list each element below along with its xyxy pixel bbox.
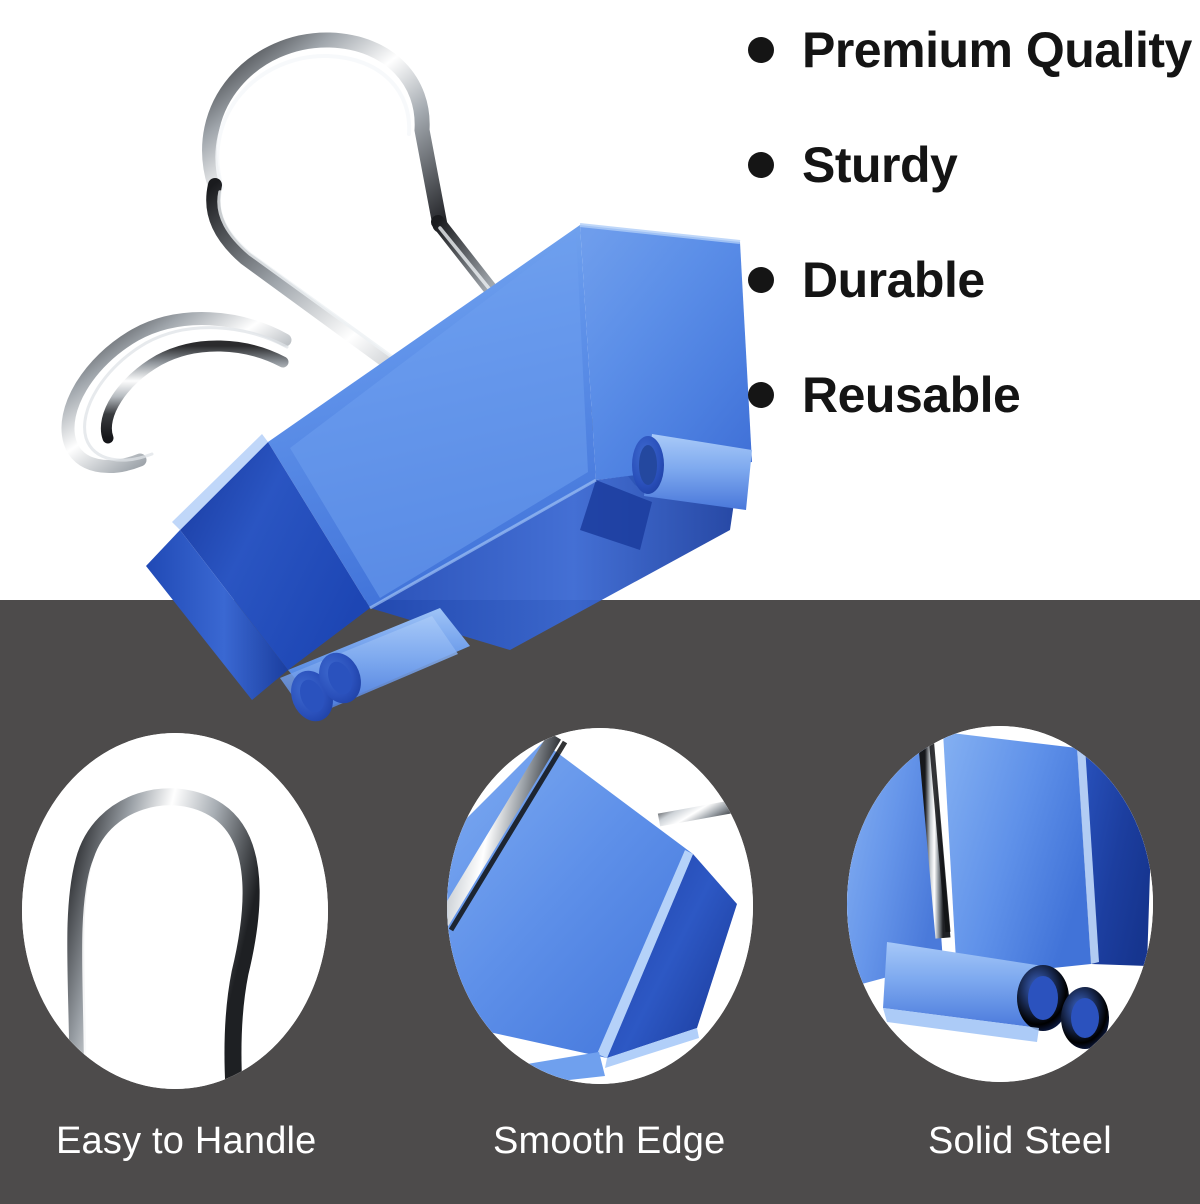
feature-item: Durable [748,222,1200,337]
bullet-icon [748,382,774,408]
product-feature-image: Premium Quality Sturdy Durable Reusable [0,0,1200,1204]
detail-inset-easy-to-handle [22,733,328,1089]
detail-inset-smooth-edge [447,728,753,1084]
detail-inset-solid-steel [847,726,1153,1082]
binder-clip-illustration [40,10,760,740]
inset-caption-easy-to-handle: Easy to Handle [56,1120,317,1163]
feature-list: Premium Quality Sturdy Durable Reusable [748,0,1200,452]
feature-item: Sturdy [748,107,1200,222]
bullet-icon [748,152,774,178]
feature-label: Reusable [802,370,1020,420]
bullet-icon [748,37,774,63]
feature-item: Reusable [748,337,1200,452]
feature-item: Premium Quality [748,0,1200,107]
inset-caption-smooth-edge: Smooth Edge [493,1120,725,1163]
inset-caption-solid-steel: Solid Steel [928,1120,1112,1163]
bullet-icon [748,267,774,293]
hero-section: Premium Quality Sturdy Durable Reusable [0,0,1200,600]
feature-label: Sturdy [802,140,957,190]
clip-body [146,225,752,728]
feature-label: Durable [802,255,985,305]
feature-label: Premium Quality [802,25,1192,75]
